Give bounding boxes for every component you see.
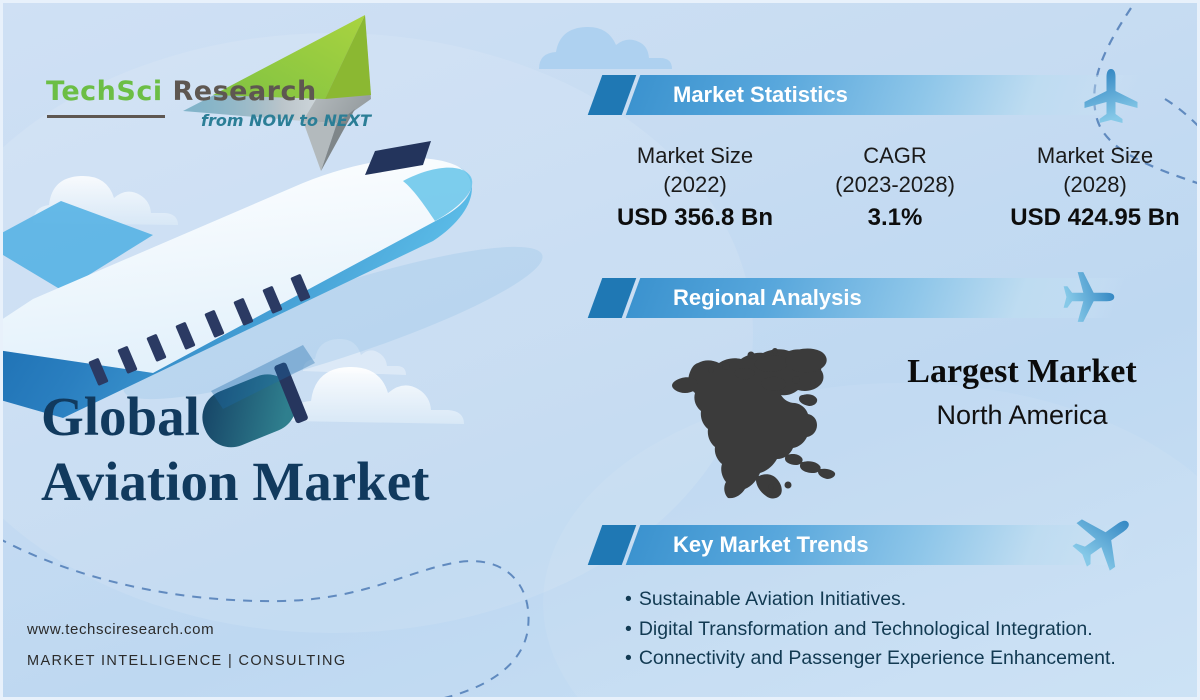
stat-cell: Market Size (2028) USD 424.95 Bn (995, 141, 1195, 232)
trend-text: Connectivity and Passenger Experience En… (639, 647, 1116, 669)
list-item: •Connectivity and Passenger Experience E… (625, 644, 1200, 674)
regional-analysis-content: Largest Market North America (595, 335, 1195, 500)
stat-value: USD 356.8 Bn (595, 204, 795, 232)
stat-label-line1: CAGR (795, 141, 995, 170)
page-title: Global Aviation Market (41, 385, 561, 515)
infographic-canvas: TechSci Research from NOW to NEXT Global… (0, 0, 1200, 700)
banner-regional-analysis: Regional Analysis (595, 278, 1135, 318)
regional-text-block: Largest Market North America (857, 353, 1187, 431)
footer-website[interactable]: www.techsciresearch.com (27, 621, 214, 638)
stat-label-line1: Market Size (595, 141, 795, 170)
market-statistics-row: Market Size (2022) USD 356.8 Bn CAGR (20… (595, 141, 1195, 232)
flight-path-dashed (1165, 99, 1200, 131)
stat-cell: CAGR (2023-2028) 3.1% (795, 141, 995, 232)
logo-divider (47, 115, 165, 118)
stat-label-line1: Market Size (995, 141, 1195, 170)
stat-value: 3.1% (795, 204, 995, 232)
stat-cell: Market Size (2022) USD 356.8 Bn (595, 141, 795, 232)
trend-text: Digital Transformation and Technological… (639, 618, 1093, 640)
banner-label-key-market-trends: Key Market Trends (673, 525, 869, 565)
banner-key-market-trends: Key Market Trends (595, 525, 1135, 565)
footer-tagline: MARKET INTELLIGENCE | CONSULTING (27, 653, 347, 669)
key-market-trends-list: •Sustainable Aviation Initiatives. •Digi… (625, 585, 1200, 674)
stat-label: Market Size (2028) (995, 141, 1195, 199)
logo-wordmark: TechSci Research (46, 76, 317, 107)
logo-research-text: Research (163, 76, 317, 107)
stat-label-line2: (2028) (995, 170, 1195, 199)
cloud-icon (303, 339, 406, 375)
banner-label-market-statistics: Market Statistics (673, 75, 848, 115)
list-item: •Sustainable Aviation Initiatives. (625, 585, 1200, 615)
cloud-icon (33, 176, 178, 225)
bullet-icon: • (625, 618, 632, 640)
largest-market-region: North America (857, 400, 1187, 431)
logo-techsci-text: TechSci (46, 76, 163, 107)
cloud-icon (13, 319, 125, 356)
bullet-icon: • (625, 588, 632, 610)
page-title-line1: Global (41, 385, 561, 450)
trend-text: Sustainable Aviation Initiatives. (639, 588, 906, 610)
list-item: •Digital Transformation and Technologica… (625, 615, 1200, 645)
cloud-icon (539, 27, 672, 69)
page-title-line2: Aviation Market (41, 450, 561, 515)
brand-logo[interactable]: TechSci Research from NOW to NEXT (41, 21, 401, 136)
stat-value: USD 424.95 Bn (995, 204, 1195, 232)
stat-label: CAGR (2023-2028) (795, 141, 995, 199)
stat-label-line2: (2023-2028) (795, 170, 995, 199)
stat-label: Market Size (2022) (595, 141, 795, 199)
flight-path-dashed (3, 538, 529, 700)
banner-market-statistics: Market Statistics (595, 75, 1135, 115)
largest-market-heading: Largest Market (857, 353, 1187, 390)
banner-label-regional-analysis: Regional Analysis (673, 278, 862, 318)
bullet-icon: • (625, 647, 632, 669)
cloud-icon (23, 316, 129, 352)
north-america-map-icon (663, 335, 853, 500)
logo-tagline: from NOW to NEXT (201, 111, 371, 130)
stat-label-line2: (2022) (595, 170, 795, 199)
